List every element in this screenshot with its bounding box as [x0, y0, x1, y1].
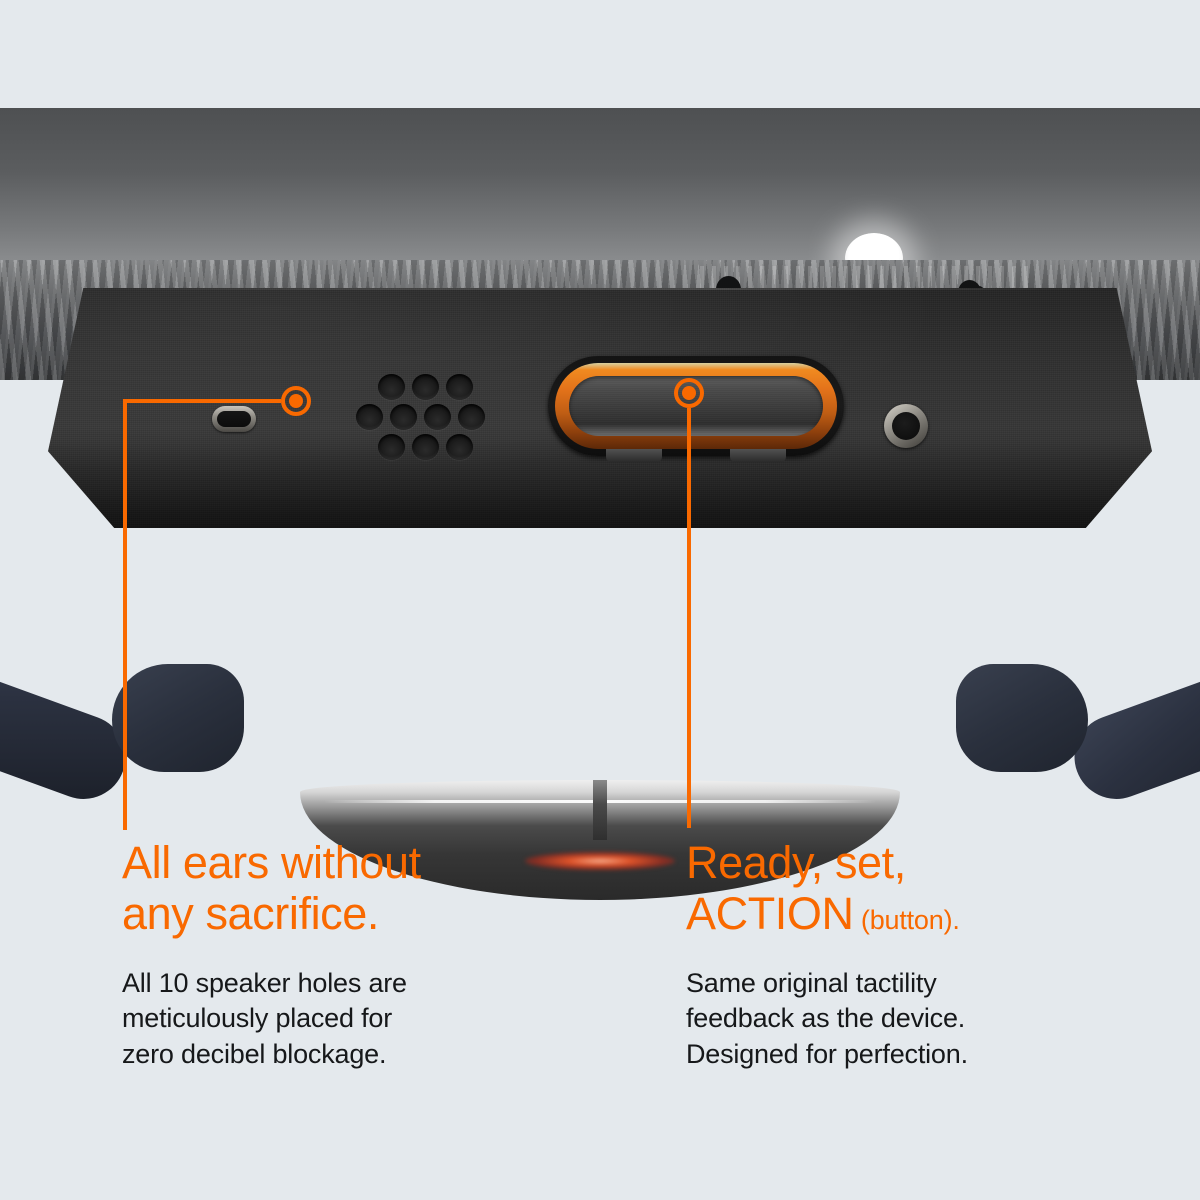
headline-line-1: All ears without [122, 838, 592, 889]
callout-dot-speaker[interactable] [281, 386, 311, 416]
speaker-hole [458, 404, 485, 430]
smartwatch-case-bottom-edge [0, 280, 1200, 660]
headline-action-qualifier: (button). [854, 905, 960, 935]
headline-line-1: Ready, set, [686, 838, 1156, 889]
body-line-3: zero decibel blockage. [122, 1037, 592, 1073]
body-line-3: Designed for perfection. [686, 1037, 1156, 1073]
speaker-hole [412, 434, 439, 460]
headline-speaker: All ears without any sacrifice. [122, 838, 592, 940]
callout-dot-center [682, 386, 696, 400]
body-copy-action: Same original tactility feedback as the … [686, 966, 1156, 1073]
speaker-row [378, 374, 473, 400]
microphone-port [884, 404, 928, 448]
body-line-2: feedback as the device. [686, 1001, 1156, 1037]
callout-dot-center [289, 394, 303, 408]
headline-action: Ready, set, ACTION (button). [686, 838, 1156, 940]
speaker-hole [412, 374, 439, 400]
microphone-port-inner [892, 412, 920, 440]
sensor-post [593, 780, 607, 840]
speaker-hole [446, 374, 473, 400]
body-line-1: All 10 speaker holes are [122, 966, 592, 1002]
headline-line-2: ACTION (button). [686, 889, 1156, 940]
sky-gradient [0, 108, 1200, 268]
speaker-row [356, 404, 485, 430]
body-copy-speaker: All 10 speaker holes are meticulously pl… [122, 966, 592, 1073]
speaker-hole [356, 404, 383, 430]
marketing-page: All ears without any sacrifice. All 10 s… [0, 0, 1200, 1200]
headline-line-2: any sacrifice. [122, 889, 592, 940]
band-lug-right [956, 664, 1088, 772]
speaker-hole [424, 404, 451, 430]
case-top-highlight [103, 288, 1097, 290]
speaker-hole [378, 434, 405, 460]
speaker-hole [446, 434, 473, 460]
speaker-grid [356, 374, 502, 460]
speaker-hole [390, 404, 417, 430]
callout-dot-action[interactable] [674, 378, 704, 408]
speaker-row [378, 434, 473, 460]
callout-text-speaker: All ears without any sacrifice. All 10 s… [122, 838, 592, 1073]
oval-sensor-port-inner [217, 411, 251, 427]
headline-action-word: ACTION [686, 888, 854, 939]
callout-text-action: Ready, set, ACTION (button). Same origin… [686, 838, 1156, 1073]
band-lug-left [112, 664, 244, 772]
speaker-hole [378, 374, 405, 400]
oval-sensor-port [212, 406, 256, 432]
body-line-1: Same original tactility [686, 966, 1156, 1002]
body-line-2: meticulously placed for [122, 1001, 592, 1037]
